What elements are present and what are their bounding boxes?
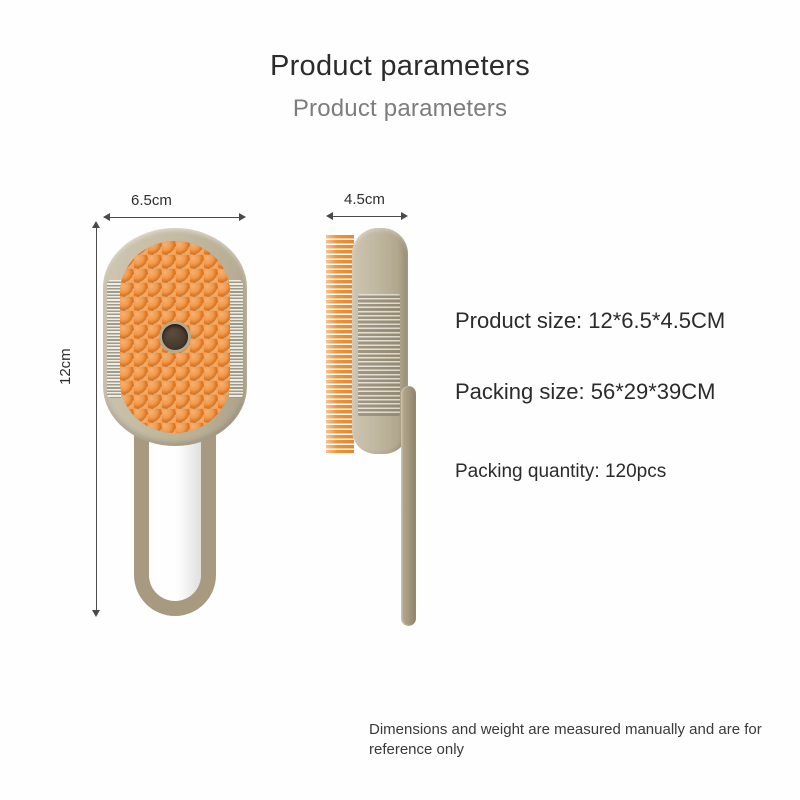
product-silicone-pad <box>120 241 230 433</box>
comb-teeth-right <box>229 280 243 398</box>
arrow-line <box>96 225 97 613</box>
arrowhead-right-icon <box>401 212 408 220</box>
disclaimer-note: Dimensions and weight are measured manua… <box>369 720 779 761</box>
dimension-arrow-width <box>103 213 246 222</box>
dimension-arrow-height <box>92 221 101 617</box>
arrow-line <box>107 217 242 218</box>
dimension-label-depth: 4.5cm <box>344 191 385 208</box>
spec-product-size: Product size: 12*6.5*4.5CM <box>455 308 725 334</box>
spec-packing-size: Packing size: 56*29*39CM <box>455 379 715 405</box>
arrowhead-right-icon <box>239 213 246 221</box>
product-side-handle <box>401 386 416 626</box>
product-side-ridges <box>358 294 400 416</box>
dimension-label-height: 12cm <box>57 348 74 385</box>
page-subtitle: Product parameters <box>0 95 800 123</box>
dimension-arrow-depth <box>326 212 408 221</box>
product-side-view <box>326 228 436 628</box>
product-front-view <box>103 228 247 618</box>
product-spray-hole <box>162 324 188 350</box>
spec-packing-quantity: Packing quantity: 120pcs <box>455 461 666 483</box>
comb-teeth-left <box>107 280 121 398</box>
arrow-line <box>330 216 404 217</box>
page-title: Product parameters <box>0 50 800 83</box>
arrowhead-down-icon <box>92 610 100 617</box>
product-handle-loop <box>134 424 216 616</box>
product-bristles <box>326 235 354 453</box>
dimension-label-width: 6.5cm <box>131 192 172 209</box>
product-side-body <box>352 228 408 454</box>
product-brush-head <box>103 228 247 446</box>
